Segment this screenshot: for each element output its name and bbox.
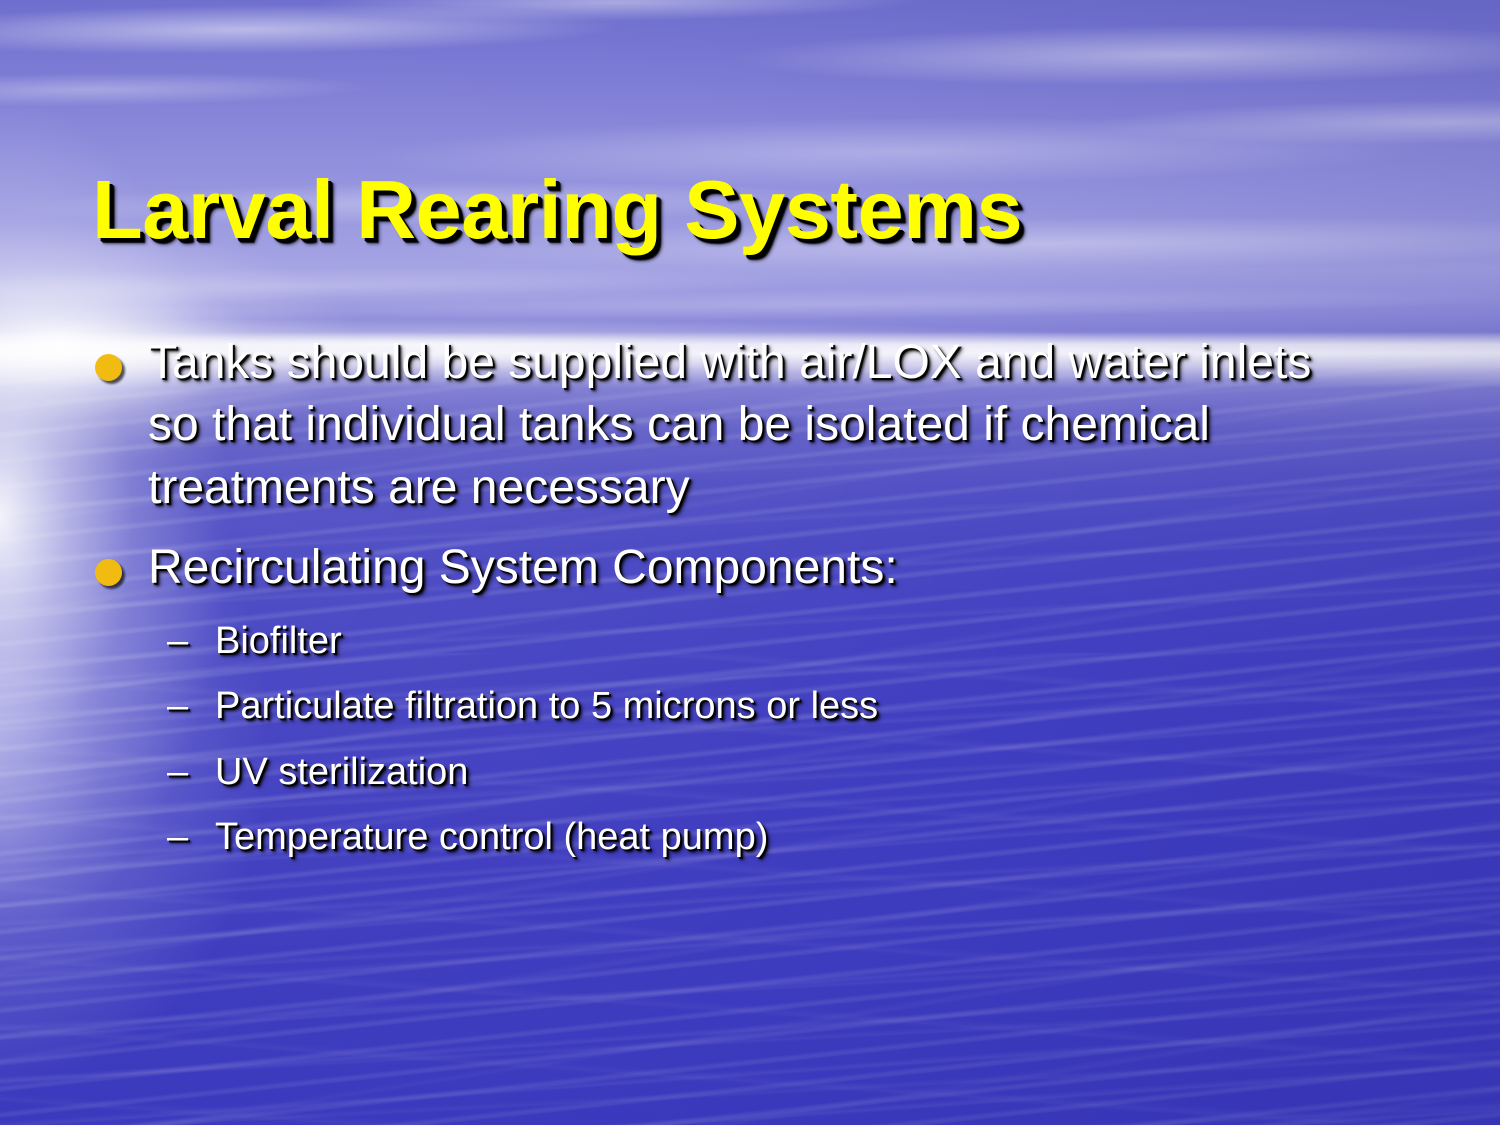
sub-bullet-list: – Biofilter – Particulate filtration to … — [0, 618, 1500, 862]
sub-bullet-label: Temperature control (heat pump) — [215, 814, 1500, 862]
round-bullet-icon — [95, 559, 122, 586]
slide-title: Larval Rearing Systems — [92, 168, 1422, 251]
sub-bullet-item: – Particulate filtration to 5 microns or… — [0, 683, 1500, 731]
sub-bullet-label: Particulate filtration to 5 microns or l… — [215, 683, 1500, 731]
dash-bullet-icon: – — [167, 683, 188, 731]
dash-bullet-icon: – — [167, 618, 188, 666]
sub-bullet-label: Biofilter — [215, 618, 1500, 666]
sub-bullet-item: – Biofilter — [0, 618, 1500, 666]
bullet-item: Recirculating System Components: — [0, 537, 1500, 599]
sub-bullet-label: UV sterilization — [215, 749, 1500, 797]
sub-bullet-item: – UV sterilization — [0, 749, 1500, 797]
bullet-item-label: Tanks should be supplied with air/LOX an… — [148, 332, 1320, 519]
dash-bullet-icon: – — [167, 749, 188, 797]
dash-bullet-icon: – — [167, 814, 188, 862]
bullet-item-label: Recirculating System Components: — [148, 537, 1320, 599]
sub-bullet-item: – Temperature control (heat pump) — [0, 814, 1500, 862]
slide-body: Tanks should be supplied with air/LOX an… — [0, 332, 1500, 862]
presentation-slide: Larval Rearing Systems Tanks should be s… — [0, 0, 1500, 1125]
bullet-item: Tanks should be supplied with air/LOX an… — [0, 332, 1500, 519]
round-bullet-icon — [95, 354, 122, 381]
